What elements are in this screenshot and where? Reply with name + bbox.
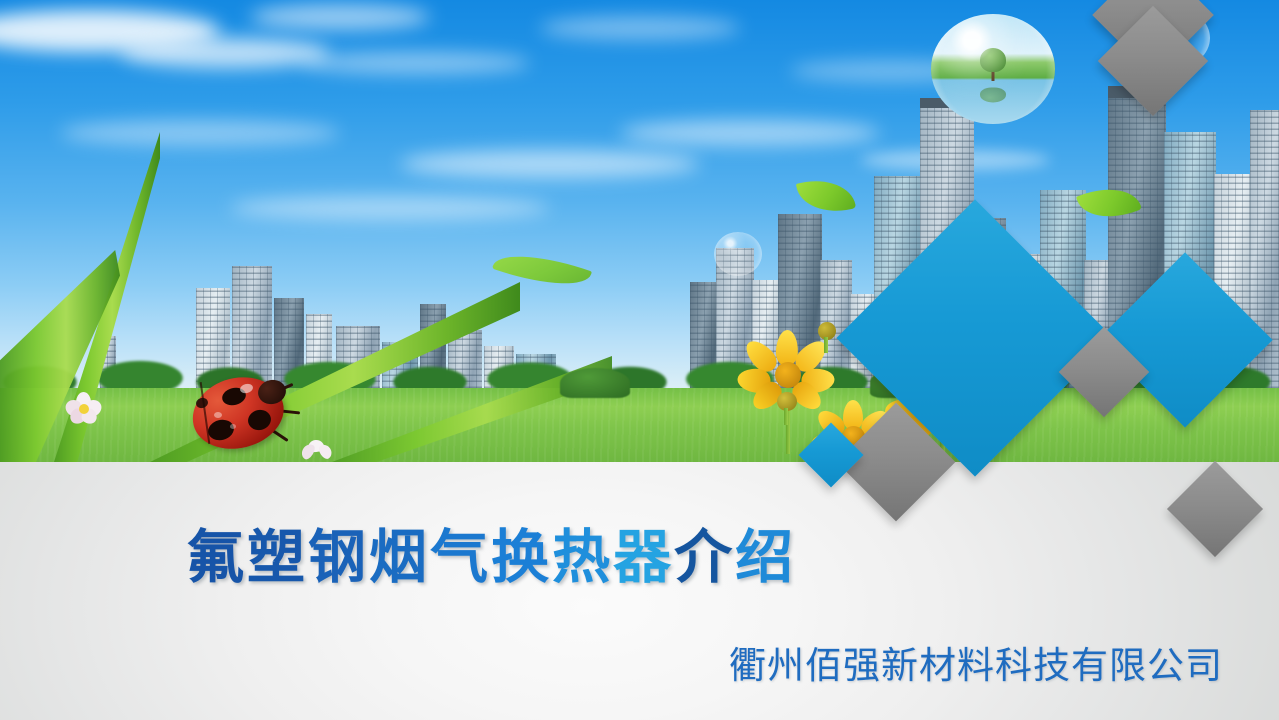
title-char-7: 器 — [613, 523, 674, 591]
title-char-9: 绍 — [735, 523, 796, 591]
shrub-icon — [560, 368, 630, 398]
presentation-slide: 氟塑钢烟气换热器介绍 衢州佰强新材料科技有限公司 — [0, 0, 1279, 720]
bubble-icon — [714, 232, 762, 276]
company-name: 衢州佰强新材料科技有限公司 — [729, 635, 1223, 689]
ladybug-icon — [192, 376, 302, 450]
title-char-8: 介 — [674, 523, 735, 591]
title-char-2: 钢 — [308, 523, 369, 591]
title-char-3: 烟 — [369, 523, 430, 591]
flower-bud-icon — [774, 392, 800, 424]
slide-title: 氟塑钢烟气换热器介绍 — [186, 510, 796, 594]
cosmos-flower-icon — [64, 392, 104, 426]
title-char-4: 气 — [430, 523, 491, 591]
title-char-6: 热 — [552, 523, 613, 591]
cosmos-flower-icon — [300, 440, 334, 460]
title-char-5: 换 — [491, 523, 552, 591]
title-char-0: 氟 — [186, 523, 247, 591]
title-char-1: 塑 — [247, 523, 308, 591]
bubble-with-tree-scene-icon — [931, 14, 1055, 124]
